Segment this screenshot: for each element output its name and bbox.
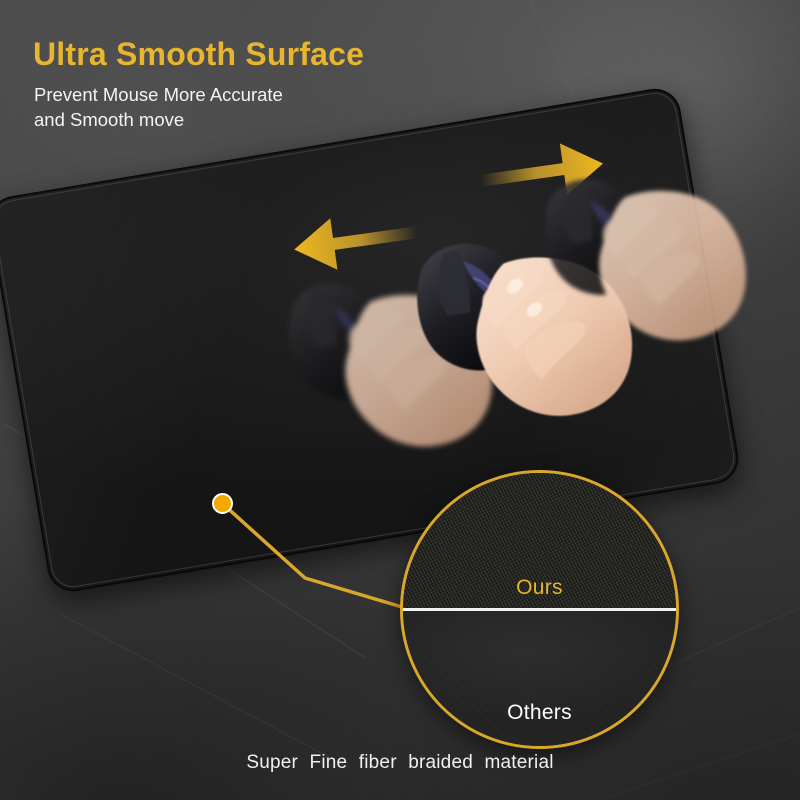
material-comparison-circle: Ours Others — [400, 470, 679, 749]
material-caption: Super Fine fiber braided material — [0, 752, 800, 774]
ours-label: Ours — [403, 576, 676, 600]
page-subtitle: Prevent Mouse More Accurate and Smooth m… — [34, 82, 283, 132]
callout-dot-icon — [212, 493, 233, 514]
page-title: Ultra Smooth Surface — [33, 36, 364, 73]
product-feature-graphic: Ours Others Ultra Smooth Surface Prevent… — [0, 0, 800, 800]
comparison-divider — [403, 608, 676, 611]
others-texture-swatch — [403, 610, 676, 747]
others-label: Others — [403, 701, 676, 725]
